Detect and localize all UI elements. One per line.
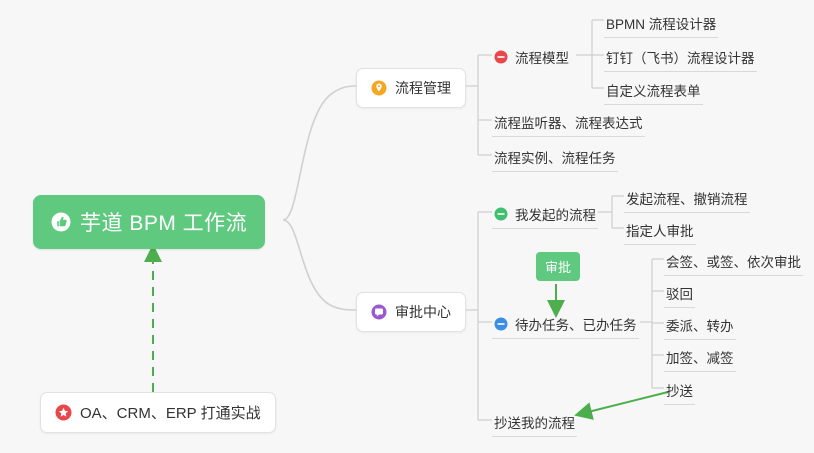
footer-node-label: OA、CRM、ERP 打通实战 — [80, 402, 261, 423]
footer-node-integration[interactable]: OA、CRM、ERP 打通实战 — [40, 392, 276, 433]
mindmap-canvas: 芋道 BPM 工作流 流程管理 流程模型 BPMN 流程设计器 钉钉（飞书）流程… — [0, 0, 814, 453]
branch-label: 流程管理 — [395, 78, 451, 98]
minus-circle-icon — [494, 207, 508, 221]
node-cc-to-me[interactable]: 抄送我的流程 — [492, 409, 577, 437]
thumbs-up-icon — [51, 212, 71, 232]
node-listener-expression[interactable]: 流程监听器、流程表达式 — [492, 109, 645, 137]
node-label: 加签、减签 — [666, 347, 734, 367]
node-start-cancel-process[interactable]: 发起流程、撤销流程 — [624, 185, 750, 213]
minus-circle-icon — [494, 50, 508, 64]
node-label: 抄送 — [666, 380, 693, 400]
node-assignee-approval[interactable]: 指定人审批 — [624, 217, 696, 245]
node-custom-form[interactable]: 自定义流程表单 — [604, 77, 703, 105]
node-label: 钉钉（飞书）流程设计器 — [606, 47, 755, 67]
node-label: 我发起的流程 — [515, 204, 596, 224]
node-my-started-process[interactable]: 我发起的流程 — [492, 201, 598, 229]
node-label: 自定义流程表单 — [606, 80, 701, 100]
branch-node-process-management[interactable]: 流程管理 — [356, 68, 466, 108]
branch-node-approval-center[interactable]: 审批中心 — [356, 292, 466, 332]
node-label: 流程实例、流程任务 — [494, 147, 616, 167]
node-cc[interactable]: 抄送 — [664, 377, 695, 405]
node-dingtalk-designer[interactable]: 钉钉（飞书）流程设计器 — [604, 44, 757, 72]
root-node[interactable]: 芋道 BPM 工作流 — [33, 195, 265, 249]
node-bpmn-designer[interactable]: BPMN 流程设计器 — [604, 10, 718, 38]
node-process-model[interactable]: 流程模型 — [492, 44, 571, 71]
star-circle-icon — [55, 404, 72, 421]
node-label: 待办任务、已办任务 — [515, 314, 637, 334]
location-pin-icon — [371, 80, 387, 96]
node-instance-task[interactable]: 流程实例、流程任务 — [492, 144, 618, 172]
node-countersign[interactable]: 会签、或签、依次审批 — [664, 248, 803, 276]
node-label: 驳回 — [666, 283, 693, 303]
node-add-remove-sign[interactable]: 加签、减签 — [664, 344, 736, 372]
node-label: 指定人审批 — [626, 220, 694, 240]
root-label: 芋道 BPM 工作流 — [80, 207, 247, 237]
tag-approval[interactable]: 审批 — [536, 252, 580, 281]
minus-circle-icon — [494, 317, 508, 331]
node-label: BPMN 流程设计器 — [606, 13, 716, 33]
node-label: 发起流程、撤销流程 — [626, 188, 748, 208]
branch-label: 审批中心 — [395, 302, 451, 322]
node-label: 流程模型 — [515, 47, 569, 67]
tag-label: 审批 — [545, 260, 571, 275]
chat-square-icon — [371, 304, 387, 320]
node-delegate-transfer[interactable]: 委派、转办 — [664, 312, 736, 340]
node-reject[interactable]: 驳回 — [664, 280, 695, 308]
node-label: 委派、转办 — [666, 315, 734, 335]
node-label: 会签、或签、依次审批 — [666, 251, 801, 271]
node-todo-done-task[interactable]: 待办任务、已办任务 — [492, 311, 639, 339]
node-label: 抄送我的流程 — [494, 412, 575, 432]
node-label: 流程监听器、流程表达式 — [494, 112, 643, 132]
